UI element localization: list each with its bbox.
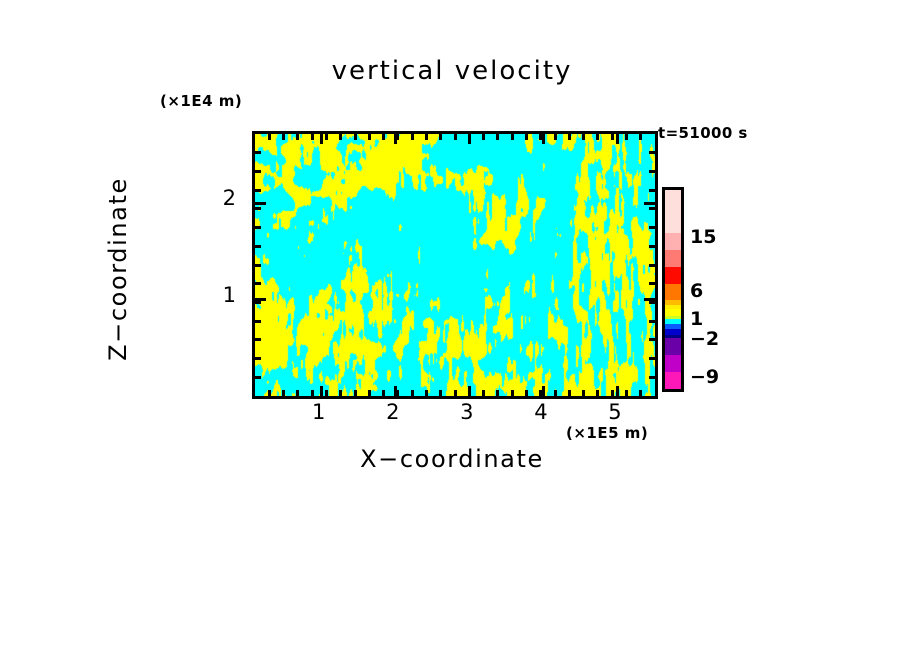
velocity-field-heatmap [255, 134, 655, 396]
x-axis-major-tick [542, 386, 545, 399]
x-axis-major-tick [320, 386, 323, 399]
x-axis-unit-label: (×1E5 m) [566, 424, 648, 442]
y-axis-minor-tick [649, 320, 658, 323]
x-axis-minor-tick [325, 390, 328, 399]
y-axis-minor-tick [649, 245, 658, 248]
x-axis-major-tick [616, 386, 619, 399]
y-axis-minor-tick [649, 357, 658, 360]
colorbar-band [665, 190, 681, 233]
x-axis-minor-tick [296, 131, 299, 140]
y-axis-minor-tick [649, 207, 658, 210]
x-axis-minor-tick [339, 390, 342, 399]
x-axis-minor-tick [268, 390, 271, 399]
y-axis-minor-tick [649, 301, 658, 304]
y-axis-minor-tick [649, 226, 658, 229]
x-axis-minor-tick [368, 390, 371, 399]
timestamp-annotation: t=51000 s [658, 124, 748, 142]
colorbar-tick-label: −9 [690, 366, 719, 388]
x-axis-minor-tick [454, 390, 457, 399]
x-axis-minor-tick [482, 390, 485, 399]
y-axis-minor-tick [252, 151, 261, 154]
colorbar-tick-label: 1 [690, 308, 703, 330]
x-tick-label: 3 [447, 400, 487, 424]
y-axis-major-tick [644, 298, 658, 301]
x-tick-label: 4 [521, 400, 561, 424]
x-axis-minor-tick [639, 390, 642, 399]
x-axis-minor-tick [525, 390, 528, 399]
y-axis-minor-tick [252, 376, 261, 379]
x-axis-minor-tick [625, 390, 628, 399]
colorbar-band [665, 267, 681, 284]
x-axis-minor-tick [311, 390, 314, 399]
y-axis-minor-tick [252, 338, 261, 341]
x-axis-minor-tick [596, 131, 599, 140]
x-axis-minor-tick [582, 131, 585, 140]
x-axis-minor-tick [554, 390, 557, 399]
y-axis-minor-tick [252, 282, 261, 285]
x-axis-minor-tick [354, 390, 357, 399]
y-axis-minor-tick [649, 264, 658, 267]
page-title: vertical velocity [0, 56, 904, 86]
x-axis-minor-tick [382, 390, 385, 399]
x-axis-major-tick [616, 131, 619, 144]
x-axis-minor-tick [596, 390, 599, 399]
y-axis-minor-tick [252, 170, 261, 173]
x-axis-major-tick [394, 386, 397, 399]
x-axis-minor-tick [554, 131, 557, 140]
x-axis-minor-tick [582, 390, 585, 399]
y-axis-minor-tick [252, 245, 261, 248]
x-axis-minor-tick [368, 131, 371, 140]
y-axis-title: Z−coordinate [104, 139, 132, 399]
y-axis-minor-tick [649, 189, 658, 192]
y-axis-minor-tick [252, 264, 261, 267]
y-axis-minor-tick [649, 338, 658, 341]
x-axis-minor-tick [568, 390, 571, 399]
colorbar-tick-label: 6 [690, 280, 703, 302]
x-axis-minor-tick [639, 131, 642, 140]
x-axis-major-tick [320, 131, 323, 144]
y-axis-major-tick [252, 298, 266, 301]
x-axis-minor-tick [568, 131, 571, 140]
x-axis-minor-tick [496, 131, 499, 140]
colorbar-band [665, 250, 681, 267]
y-axis-minor-tick [252, 226, 261, 229]
x-axis-minor-tick [425, 131, 428, 140]
y-axis-minor-tick [252, 357, 261, 360]
colorbar-band [665, 233, 681, 250]
x-axis-major-tick [394, 131, 397, 144]
x-axis-major-tick [468, 386, 471, 399]
y-axis-minor-tick [649, 170, 658, 173]
y-tick-label: 2 [196, 186, 236, 210]
x-axis-minor-tick [282, 131, 285, 140]
x-axis-minor-tick [411, 131, 414, 140]
x-axis-title: X−coordinate [252, 445, 652, 473]
x-axis-minor-tick [268, 131, 271, 140]
x-axis-minor-tick [439, 131, 442, 140]
x-axis-minor-tick [411, 390, 414, 399]
colorbar-tick-label: −2 [690, 328, 719, 350]
y-axis-minor-tick [649, 151, 658, 154]
x-axis-minor-tick [511, 131, 514, 140]
plot-area [252, 131, 658, 399]
y-axis-unit-label: (×1E4 m) [160, 92, 242, 110]
x-axis-minor-tick [296, 390, 299, 399]
colorbar-band [665, 355, 681, 372]
x-axis-minor-tick [311, 131, 314, 140]
x-axis-minor-tick [382, 131, 385, 140]
x-axis-minor-tick [525, 131, 528, 140]
x-axis-minor-tick [454, 131, 457, 140]
x-axis-minor-tick [339, 131, 342, 140]
y-axis-minor-tick [649, 376, 658, 379]
colorbar-tick-label: 15 [690, 226, 716, 248]
x-axis-minor-tick [425, 390, 428, 399]
colorbar-band [665, 372, 681, 389]
x-axis-major-tick [468, 131, 471, 144]
y-axis-minor-tick [252, 301, 261, 304]
x-axis-minor-tick [611, 131, 614, 140]
x-axis-minor-tick [354, 131, 357, 140]
y-axis-major-tick [644, 202, 658, 205]
x-axis-minor-tick [282, 390, 285, 399]
x-axis-minor-tick [482, 131, 485, 140]
x-axis-major-tick [542, 131, 545, 144]
x-tick-label: 2 [373, 400, 413, 424]
x-axis-minor-tick [511, 390, 514, 399]
x-axis-minor-tick [439, 390, 442, 399]
colorbar [662, 187, 684, 392]
x-axis-minor-tick [325, 131, 328, 140]
x-axis-minor-tick [625, 131, 628, 140]
y-axis-minor-tick [252, 207, 261, 210]
x-axis-minor-tick [611, 390, 614, 399]
y-axis-minor-tick [252, 320, 261, 323]
x-axis-minor-tick [496, 390, 499, 399]
colorbar-band [665, 338, 681, 355]
y-tick-label: 1 [196, 283, 236, 307]
y-axis-major-tick [252, 202, 266, 205]
x-tick-label: 5 [595, 400, 635, 424]
x-tick-label: 1 [299, 400, 339, 424]
y-axis-minor-tick [649, 282, 658, 285]
colorbar-band [665, 284, 681, 301]
y-axis-minor-tick [252, 189, 261, 192]
